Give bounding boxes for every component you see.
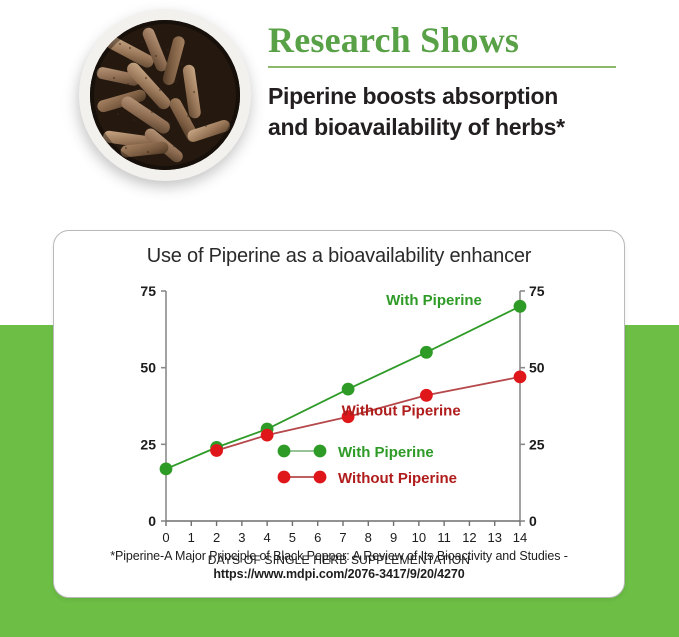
chart-plot-area: 0255075025507501234567891011121314With P…: [54, 275, 626, 565]
hero-text-block: Research Shows Piperine boosts absorptio…: [268, 18, 668, 143]
data-point: [514, 300, 527, 313]
hero-subtitle: Piperine boosts absorption and bioavaila…: [268, 81, 668, 143]
y-tick-label-left: 75: [140, 283, 156, 299]
line-chart: 0255075025507501234567891011121314With P…: [54, 275, 626, 565]
y-tick-label-left: 0: [148, 513, 156, 529]
x-tick-label: 2: [213, 530, 220, 545]
x-tick-label: 10: [412, 530, 426, 545]
chart-card: Use of Piperine as a bioavailability enh…: [53, 230, 625, 598]
long-pepper-bowl-image: [67, 5, 267, 190]
y-tick-label-right: 25: [529, 436, 545, 452]
data-point: [210, 444, 223, 457]
y-tick-label-left: 50: [140, 360, 156, 376]
hero-divider: [268, 66, 616, 68]
x-tick-label: 11: [437, 530, 451, 545]
legend-marker: [278, 471, 291, 484]
series-annotation: With Piperine: [386, 292, 482, 309]
data-point: [420, 346, 433, 359]
hero-subtitle-line-2: and bioavailability of herbs*: [268, 112, 668, 143]
data-point: [342, 383, 355, 396]
hero-title: Research Shows: [268, 18, 668, 62]
x-tick-label: 8: [365, 530, 372, 545]
data-point: [261, 429, 274, 442]
footnote-line-1: *Piperine-A Major Principle of Black Pep…: [54, 547, 624, 565]
chart-footnote: *Piperine-A Major Principle of Black Pep…: [54, 547, 624, 583]
series-annotation: Without Piperine: [342, 403, 461, 420]
x-tick-label: 13: [487, 530, 501, 545]
bowl-contents: [90, 20, 240, 170]
y-tick-label-right: 75: [529, 283, 545, 299]
x-tick-label: 0: [162, 530, 169, 545]
x-tick-label: 7: [339, 530, 346, 545]
hero-subtitle-line-1: Piperine boosts absorption: [268, 81, 668, 112]
page-root: Research Shows Piperine boosts absorptio…: [0, 0, 679, 637]
y-tick-label-left: 25: [140, 436, 156, 452]
y-tick-label-right: 0: [529, 513, 537, 529]
legend-label: With Piperine: [338, 444, 434, 461]
x-tick-label: 3: [238, 530, 245, 545]
x-tick-label: 5: [289, 530, 296, 545]
x-tick-label: 4: [264, 530, 271, 545]
chart-title: Use of Piperine as a bioavailability enh…: [54, 245, 624, 268]
data-point: [160, 463, 173, 476]
x-tick-label: 9: [390, 530, 397, 545]
legend-marker: [314, 471, 327, 484]
footnote-line-2: https://www.mdpi.com/2076-3417/9/20/4270: [54, 565, 624, 583]
legend-label: Without Piperine: [338, 470, 457, 487]
bowl-rim: [79, 9, 251, 181]
data-point: [514, 371, 527, 384]
data-point: [420, 389, 433, 402]
x-tick-label: 1: [188, 530, 195, 545]
y-tick-label-right: 50: [529, 360, 545, 376]
legend-marker: [278, 445, 291, 458]
hero-section: Research Shows Piperine boosts absorptio…: [0, 0, 679, 210]
x-tick-label: 14: [513, 530, 527, 545]
x-tick-label: 6: [314, 530, 321, 545]
legend-marker: [314, 445, 327, 458]
x-tick-label: 12: [462, 530, 476, 545]
